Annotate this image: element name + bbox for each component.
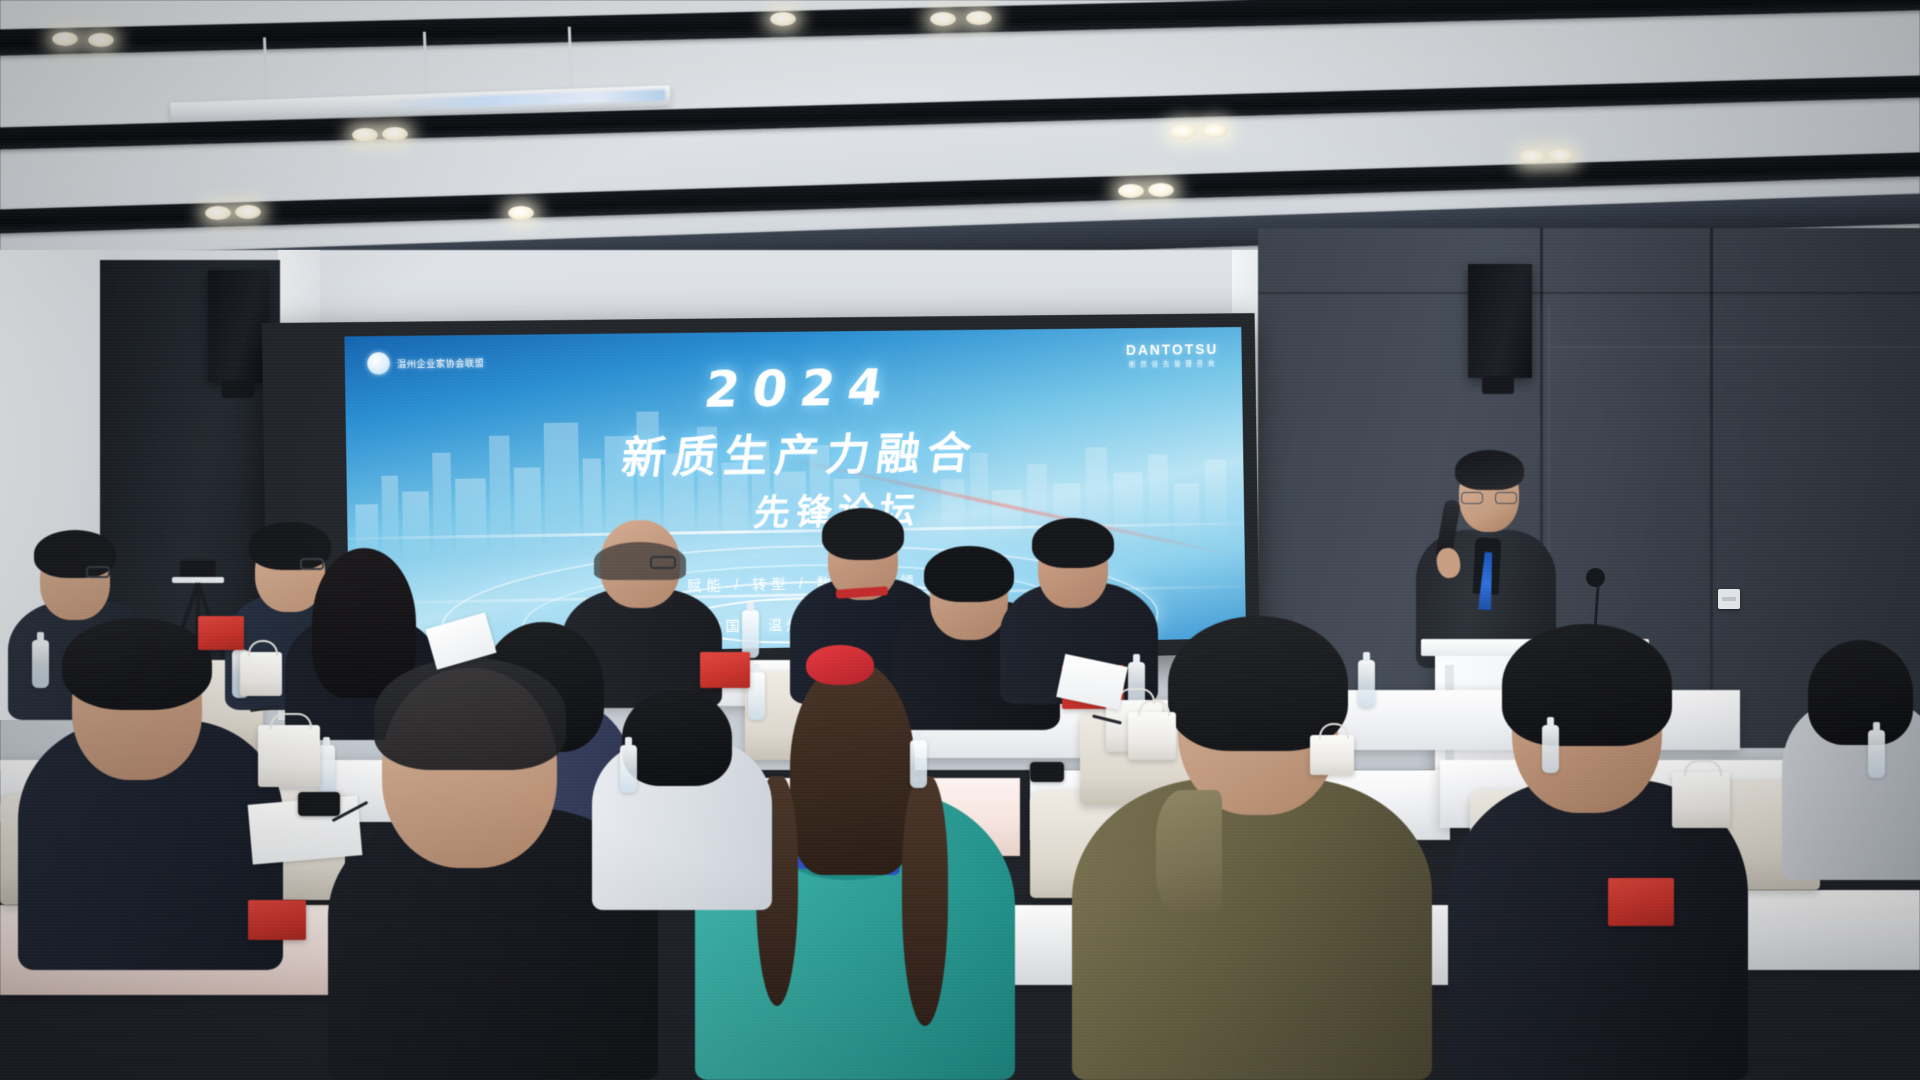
screen-year: 2024 <box>701 358 900 418</box>
audience-person-hair-strand <box>902 776 948 1026</box>
jacket-shoulder <box>1156 790 1222 910</box>
speaker-mount <box>222 380 254 398</box>
phone <box>298 792 340 816</box>
red-gift-box <box>700 652 750 688</box>
downlight <box>966 11 992 25</box>
downlight <box>930 12 956 26</box>
audience-person-hair <box>62 618 212 710</box>
wall-speaker-right <box>1468 264 1532 378</box>
downlight <box>52 32 78 46</box>
water-bottle <box>1358 660 1375 708</box>
audience-person-hair <box>1808 640 1913 745</box>
ceiling-channel-1 <box>0 0 1920 56</box>
audience-person-hair <box>1502 624 1672 746</box>
water-bottle <box>32 640 49 688</box>
audience-person-hair <box>822 508 904 560</box>
paper-bag <box>1672 772 1730 828</box>
downlight <box>1520 150 1546 164</box>
downlight <box>1148 183 1174 197</box>
water-bottle <box>748 672 765 720</box>
water-bottle <box>620 745 637 793</box>
paper-bag <box>258 725 320 787</box>
water-bottle <box>1868 730 1885 778</box>
glasses-icon <box>86 566 110 578</box>
paper-bag <box>240 652 282 696</box>
red-hair-bow <box>806 645 874 685</box>
downlight <box>1118 184 1144 198</box>
camera-icon <box>180 560 216 577</box>
red-gift-box <box>1608 878 1674 926</box>
red-gift-box <box>248 900 306 940</box>
audience-person-hair <box>1032 518 1114 568</box>
audience-person-hair <box>924 546 1014 602</box>
wall-speaker-left <box>208 270 268 382</box>
gooseneck-microphone-icon <box>1586 568 1605 587</box>
downlight <box>508 206 534 220</box>
water-bottle <box>910 740 927 788</box>
glasses-icon <box>1461 492 1517 504</box>
presenter-hair <box>1455 450 1524 490</box>
glasses-icon <box>300 558 324 570</box>
downlight <box>205 206 231 220</box>
downlight <box>1170 125 1196 139</box>
screen-headline-1: 新质生产力融合 <box>618 417 982 486</box>
audience-person-body <box>1072 778 1432 1080</box>
audience-person-hair <box>374 658 566 770</box>
downlight <box>1202 124 1228 138</box>
downlight <box>88 33 114 47</box>
downlight <box>770 12 796 26</box>
glasses-icon <box>650 556 676 569</box>
water-bottle <box>318 745 335 793</box>
conference-room-photo: 温州企业家协会联盟 DANTOTSU 断 然 领 先 管 理 咨 询 2024 … <box>0 0 1920 1080</box>
water-bottle <box>742 610 759 658</box>
downlight <box>1548 149 1574 163</box>
paper-bag <box>1310 735 1354 775</box>
downlight <box>382 127 408 141</box>
red-gift-box <box>198 616 244 650</box>
phone <box>1030 762 1064 782</box>
downlight <box>352 128 378 142</box>
audience-person-hair <box>622 690 732 786</box>
water-bottle <box>1542 725 1559 773</box>
audience-person-hair <box>790 660 915 875</box>
wall-outlet-plate <box>1718 589 1740 609</box>
speaker-mount <box>1482 376 1514 394</box>
wall-panel-edge <box>1550 346 1920 348</box>
paper-bag <box>1128 712 1176 760</box>
downlight <box>235 205 261 219</box>
wall-seam <box>1710 228 1713 748</box>
